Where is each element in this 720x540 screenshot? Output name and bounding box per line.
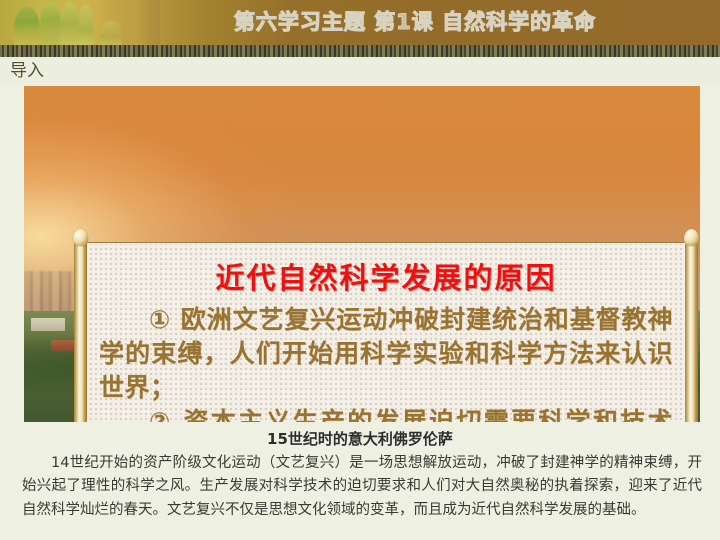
header-band: 第六学习主题 第1课 自然科学的革命 bbox=[0, 0, 720, 45]
scroll-knob-top-left bbox=[73, 229, 88, 246]
scroll-knob-top-right bbox=[684, 229, 699, 246]
greek-key-divider bbox=[0, 45, 720, 57]
subhead-bar bbox=[0, 57, 720, 86]
scroll-title: 近代自然科学发展的原因 bbox=[85, 255, 687, 297]
scroll-rod-right bbox=[685, 234, 698, 422]
scroll-line-2: ② 资本主义生产的发展迫切需要科学和技术（17世纪始）。 bbox=[99, 405, 673, 422]
scroll-paper: 近代自然科学发展的原因 ① 欧洲文艺复兴运动冲破封建统治和基督教神学的束缚，人们… bbox=[84, 242, 688, 422]
subhead-label: 导入 bbox=[10, 57, 44, 86]
scroll-panel: 近代自然科学发展的原因 ① 欧洲文艺复兴运动冲破封建统治和基督教神学的束缚，人们… bbox=[68, 234, 700, 422]
florence-picture: 近代自然科学发展的原因 ① 欧洲文艺复兴运动冲破封建统治和基督教神学的束缚，人们… bbox=[24, 86, 700, 422]
slide-canvas: 第六学习主题 第1课 自然科学的革命 导入 近代自然科学发展的原因 bbox=[0, 0, 720, 540]
scroll-body: ① 欧洲文艺复兴运动冲破封建统治和基督教神学的束缚，人们开始用科学实验和科学方法… bbox=[99, 303, 673, 422]
page-title: 第六学习主题 第1课 自然科学的革命 bbox=[0, 0, 720, 45]
scroll-rod-left bbox=[74, 234, 87, 422]
scroll-line-1: ① 欧洲文艺复兴运动冲破封建统治和基督教神学的束缚，人们开始用科学实验和科学方法… bbox=[99, 303, 673, 405]
body-paragraph: 14世纪开始的资产阶级文化运动（文艺复兴）是一场思想解放运动，冲破了封建神学的精… bbox=[22, 452, 702, 522]
picture-caption: 15世纪时的意大利佛罗伦萨 bbox=[0, 428, 720, 449]
